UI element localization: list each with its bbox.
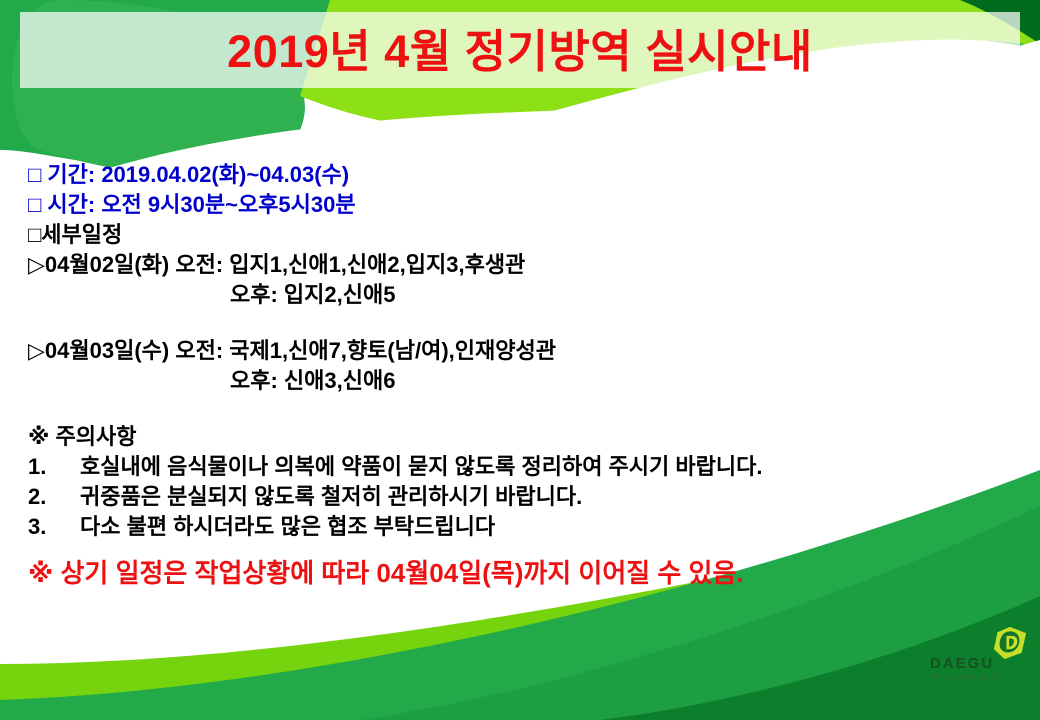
notice-gap [28,396,1028,422]
day2-morning-line: ▷04월03일(수) 오전: 국제1,신애7,향토(남/여),인재양성관 [28,336,1028,366]
slide-canvas: 2019년 4월 정기방역 실시안내 □ 기간: 2019.04.02(화)~0… [0,0,1040,720]
schedule-heading: □세부일정 [28,220,1028,250]
daegu-diamond-emblem-icon [992,626,1028,660]
content-body: □ 기간: 2019.04.02(화)~04.03(수) □ 시간: 오전 9시… [28,160,1028,590]
final-note-gap [28,542,1028,556]
notice-number: 3. [28,512,80,542]
notice-number: 1. [28,452,80,482]
schedule-gap [28,310,1028,336]
final-note-line: ※ 상기 일정은 작업상황에 따라 04월04일(목)까지 이어질 수 있음. [28,556,1028,590]
notice-heading: ※ 주의사항 [28,422,1028,452]
logo-subtitle-text: UNIVERSITY [932,673,1032,683]
daegu-university-logo: DAEGU UNIVERSITY [930,626,1030,692]
notice-number: 2. [28,482,80,512]
notice-item: 1. 호실내에 음식물이나 의복에 약품이 묻지 않도록 정리하여 주시기 바랍… [28,452,1028,482]
notice-item: 3. 다소 불편 하시더라도 많은 협조 부탁드립니다 [28,512,1028,542]
title-banner: 2019년 4월 정기방역 실시안내 [20,12,1020,88]
page-title: 2019년 4월 정기방역 실시안내 [227,29,813,74]
notice-text: 귀중품은 분실되지 않도록 철저히 관리하시기 바랍니다. [80,482,582,512]
day1-afternoon-line: 오후: 입지2,신애5 [28,280,1028,310]
day1-morning-line: ▷04월02일(화) 오전: 입지1,신애1,신애2,입지3,후생관 [28,250,1028,280]
period-line: □ 기간: 2019.04.02(화)~04.03(수) [28,160,1028,190]
time-line: □ 시간: 오전 9시30분~오후5시30분 [28,190,1028,220]
day2-afternoon-line: 오후: 신애3,신애6 [28,366,1028,396]
notice-text: 다소 불편 하시더라도 많은 협조 부탁드립니다 [80,512,495,542]
logo-name-text: DAEGU [930,656,1030,672]
notice-text: 호실내에 음식물이나 의복에 약품이 묻지 않도록 정리하여 주시기 바랍니다. [80,452,762,482]
notice-item: 2. 귀중품은 분실되지 않도록 철저히 관리하시기 바랍니다. [28,482,1028,512]
